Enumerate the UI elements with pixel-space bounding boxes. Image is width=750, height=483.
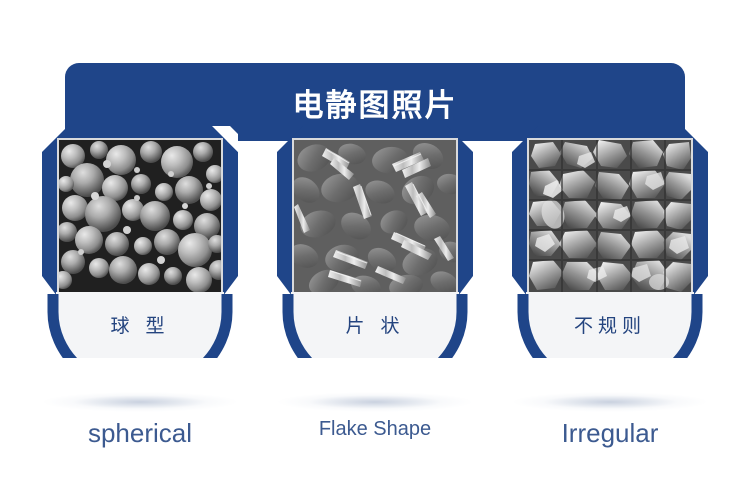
- caption-en-irregular: Irregular: [512, 418, 708, 449]
- caption-en-flake: Flake Shape: [277, 418, 473, 441]
- card-shadow-irregular: [512, 392, 708, 412]
- caption-en-spherical: spherical: [42, 418, 238, 449]
- card-spherical[interactable]: 球 型: [42, 126, 238, 358]
- sem-image-irregular: [529, 140, 691, 292]
- poster-canvas: 电静图照片: [0, 0, 750, 483]
- card-label-cn-irregular: 不规则: [512, 298, 708, 350]
- sem-image-flake: [294, 140, 456, 292]
- card-label-cn-spherical: 球 型: [42, 298, 238, 350]
- card-label-cn-flake: 片 状: [277, 298, 473, 350]
- sem-image-spherical: [59, 140, 221, 292]
- card-irregular[interactable]: 不规则: [512, 126, 708, 358]
- card-shadow-spherical: [42, 392, 238, 412]
- card-flake[interactable]: 片 状: [277, 126, 473, 358]
- card-shadow-flake: [277, 392, 473, 412]
